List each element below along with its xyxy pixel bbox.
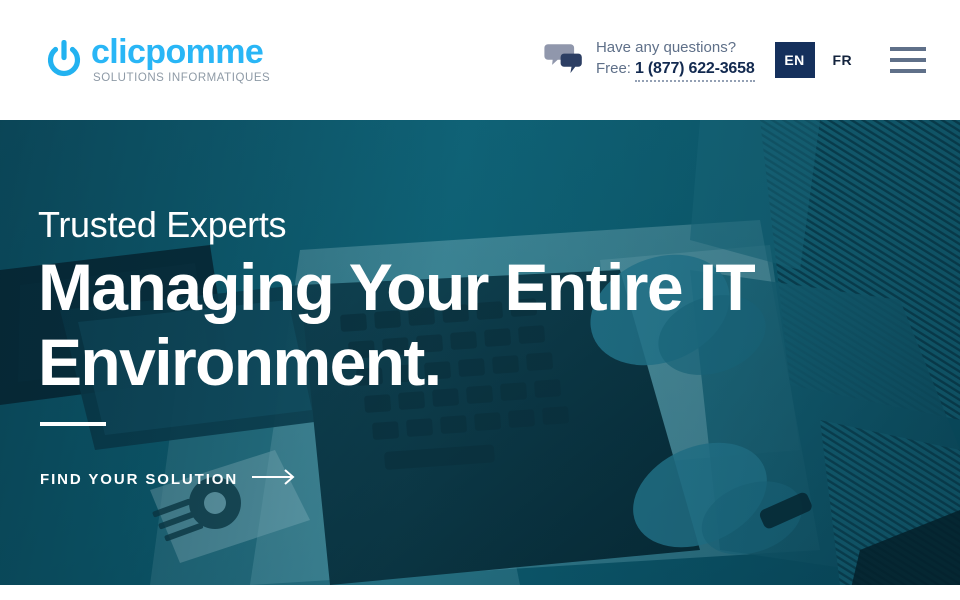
chat-bubbles-icon bbox=[542, 41, 596, 80]
language-toggle-en[interactable]: EN bbox=[775, 42, 815, 78]
burger-line-3 bbox=[890, 69, 926, 73]
burger-line-2 bbox=[890, 58, 926, 62]
hamburger-menu-icon[interactable] bbox=[890, 47, 926, 73]
hero-divider bbox=[40, 422, 106, 426]
arrow-right-icon bbox=[252, 468, 298, 491]
contact-block: Have any questions? Free: 1 (877) 622-36… bbox=[596, 38, 755, 82]
contact-phone-row: Free: 1 (877) 622-3658 bbox=[596, 58, 755, 82]
power-icon bbox=[46, 40, 82, 80]
hero-banner: Trusted Experts Managing Your Entire IT … bbox=[0, 120, 960, 585]
contact-question: Have any questions? bbox=[596, 38, 755, 58]
hero-cta-label: FIND YOUR SOLUTION bbox=[40, 471, 238, 488]
hero-content: Trusted Experts Managing Your Entire IT … bbox=[38, 120, 960, 585]
hero-title: Managing Your Entire IT Environment. bbox=[38, 250, 960, 399]
find-your-solution-button[interactable]: FIND YOUR SOLUTION bbox=[40, 468, 960, 491]
logo-wordmark: clicpomme bbox=[91, 35, 270, 69]
contact-free-label: Free: bbox=[596, 59, 631, 79]
burger-line-1 bbox=[890, 47, 926, 51]
logo-tagline: SOLUTIONS INFORMATIQUES bbox=[91, 73, 270, 85]
hero-eyebrow: Trusted Experts bbox=[38, 204, 960, 246]
header-right-group: Have any questions? Free: 1 (877) 622-36… bbox=[542, 38, 926, 82]
contact-phone-link[interactable]: 1 (877) 622-3658 bbox=[635, 58, 755, 82]
language-toggle-fr[interactable]: FR bbox=[833, 52, 852, 68]
logo-text: clicpomme SOLUTIONS INFORMATIQUES bbox=[91, 35, 270, 85]
site-header: clicpomme SOLUTIONS INFORMATIQUES Have a… bbox=[0, 0, 960, 120]
logo-link[interactable]: clicpomme SOLUTIONS INFORMATIQUES bbox=[46, 35, 270, 85]
